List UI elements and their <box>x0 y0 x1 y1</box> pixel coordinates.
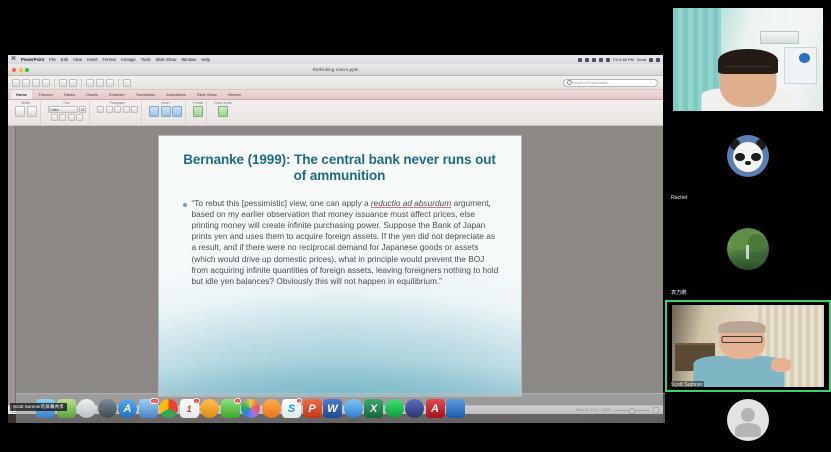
menubar-status-items[interactable]: Fri 9:48 PM Scott <box>578 57 660 62</box>
bluetooth-icon[interactable] <box>578 58 582 62</box>
macos-dock[interactable]: A 12 13 6 S4 P W X A <box>16 393 671 423</box>
battery-icon[interactable] <box>606 58 610 62</box>
app-store-icon[interactable]: A <box>118 399 137 418</box>
notification-center-icon[interactable] <box>656 58 660 62</box>
avatar-shoulders <box>735 423 761 437</box>
preview-image-icon[interactable]: 12 <box>139 399 158 418</box>
editor-work-area[interactable]: Bernanke (1999): The central bank never … <box>8 126 663 405</box>
ribbon-group-row[interactable] <box>149 106 182 117</box>
font-name-row[interactable]: Calibri 28 <box>48 106 87 113</box>
menu-edit[interactable]: Edit <box>61 57 68 62</box>
ribbon-group-insert: Insert <box>146 101 186 125</box>
spotify-icon[interactable] <box>385 399 404 418</box>
toolbar-divider <box>81 79 82 87</box>
align-right-icon[interactable] <box>131 106 138 113</box>
tab-home[interactable]: Home <box>11 90 32 99</box>
calendar-icon[interactable]: 13 <box>180 399 199 418</box>
underline-icon[interactable] <box>68 114 75 121</box>
participant-tile-4[interactable]: Scott Sumner <box>665 300 831 392</box>
settings-gear-icon[interactable] <box>98 399 117 418</box>
menubar-username[interactable]: Scott <box>637 57 646 62</box>
participant-filmstrip[interactable]: Rachel 袁方鹏 Scott Sumner <box>665 0 831 452</box>
font-name-select[interactable]: Calibri <box>48 106 78 113</box>
participant-tile-5[interactable] <box>665 392 831 452</box>
tab-smartart[interactable]: SmartArt <box>104 90 130 99</box>
insert-shape-icon[interactable] <box>172 106 182 117</box>
blue-app-icon[interactable] <box>446 399 465 418</box>
tab-charts[interactable]: Charts <box>81 90 103 99</box>
search-input[interactable]: Search in Presentation <box>563 79 658 87</box>
ribbon-group-format: Format <box>190 101 207 125</box>
shared-screen-region[interactable]: ⌘ PowerPoint File Edit View Insert Forma… <box>0 0 665 452</box>
vpn-shield-icon[interactable] <box>405 399 424 418</box>
excel-glyph: X <box>364 399 383 418</box>
ribbon-group-row[interactable] <box>218 106 228 117</box>
toolbar-divider <box>54 79 55 87</box>
ribbon-group-label: Slides <box>21 101 30 105</box>
menu-insert[interactable]: Insert <box>87 57 97 62</box>
tab-animations[interactable]: Animations <box>161 90 191 99</box>
ribbon-group-row[interactable] <box>193 106 203 117</box>
app-store-glyph: A <box>118 399 137 418</box>
panda-eye-right <box>751 153 761 161</box>
slide-body-text[interactable]: “To rebut this [pessimistic] view, one c… <box>192 198 501 288</box>
tab-transitions[interactable]: Transitions <box>131 90 160 99</box>
tab-tables[interactable]: Tables <box>59 90 81 99</box>
toolbar-divider <box>118 79 119 87</box>
macos-menubar[interactable]: ⌘ PowerPoint File Edit View Insert Forma… <box>8 55 663 64</box>
new-slide-icon[interactable] <box>15 106 25 117</box>
tab-slide-show[interactable]: Slide Show <box>192 90 222 99</box>
new-presentation-button[interactable] <box>12 79 20 87</box>
ribbon-group-row[interactable] <box>15 106 37 117</box>
slide-title[interactable]: Bernanke (1999): The central bank never … <box>177 152 503 185</box>
volume-icon[interactable] <box>592 58 596 62</box>
powerpoint-icon[interactable]: P <box>303 399 322 418</box>
powerpoint-titlebar[interactable]: Rethinking macro.pptx <box>8 64 663 76</box>
participant-1-video <box>673 8 823 111</box>
tab-themes[interactable]: Themes <box>33 90 57 99</box>
zoom-meeting-window: ⌘ PowerPoint File Edit View Insert Forma… <box>0 0 831 452</box>
align-left-icon[interactable] <box>114 106 121 113</box>
powerpoint-glyph: P <box>303 399 322 418</box>
participant-tile-3[interactable]: 袁方鹏 <box>665 205 831 300</box>
participant-4-video <box>672 305 824 387</box>
open-file-button[interactable] <box>22 79 30 87</box>
word-icon[interactable]: W <box>323 399 342 418</box>
ribbon-group-label: Font <box>64 101 70 105</box>
paste-button[interactable] <box>106 79 114 87</box>
tab-review[interactable]: Review <box>223 90 246 99</box>
ribbon-toolbar[interactable]: Slides Font Calibri 28 <box>8 100 663 126</box>
whiteboard-object <box>784 47 817 84</box>
participant-3-name: 袁方鹏 <box>669 288 689 296</box>
copy-button[interactable] <box>96 79 104 87</box>
menu-app-name[interactable]: PowerPoint <box>21 57 44 62</box>
safari-icon[interactable] <box>344 399 363 418</box>
bold-icon[interactable] <box>51 114 58 121</box>
panda-avatar <box>727 135 769 177</box>
redo-button[interactable] <box>69 79 77 87</box>
wall-decoration <box>799 53 810 62</box>
macos-desktop: ⌘ PowerPoint File Edit View Insert Forma… <box>8 55 663 423</box>
skype-badge: 4 <box>296 398 302 404</box>
adobe-glyph: A <box>426 399 445 418</box>
open-circle-icon[interactable] <box>200 399 219 418</box>
ribbon-group-label: Paragraph <box>110 101 125 105</box>
participant-4-hand <box>771 358 791 373</box>
display-icon[interactable] <box>585 58 589 62</box>
menubar-clock[interactable]: Fri 9:48 PM <box>613 57 634 62</box>
skype-icon[interactable]: S4 <box>282 399 301 418</box>
messages-badge: 6 <box>234 398 240 404</box>
insert-picture-icon[interactable] <box>161 106 171 117</box>
participant-1-name <box>669 110 673 111</box>
screenshare-name-chip: Scott Sumner的屏幕共享 <box>10 403 67 411</box>
photos-icon[interactable] <box>241 399 260 418</box>
menu-view[interactable]: View <box>73 57 82 62</box>
messages-icon[interactable]: 6 <box>221 399 240 418</box>
participant-5-name <box>669 447 673 448</box>
font-size-select[interactable]: 28 <box>79 106 86 113</box>
participant-tile-2[interactable]: Rachel <box>665 115 831 205</box>
foliage-right <box>748 234 766 252</box>
word-glyph: W <box>323 399 342 418</box>
shape-fill-icon[interactable] <box>193 106 203 117</box>
numbered-list-icon[interactable] <box>106 106 113 113</box>
excel-icon[interactable]: X <box>364 399 383 418</box>
adobe-reader-icon[interactable]: A <box>426 399 445 418</box>
participant-tile-1[interactable] <box>665 0 831 115</box>
zoom-level-button[interactable] <box>123 79 131 87</box>
font-style-row[interactable] <box>51 114 84 121</box>
ribbon-group-label: Format <box>193 101 203 105</box>
ribbon-group-themes: Quick Styles <box>211 101 235 125</box>
nature-avatar <box>727 228 769 270</box>
print-button[interactable] <box>42 79 50 87</box>
quick-access-toolbar[interactable]: Search in Presentation <box>8 76 663 90</box>
slide-layout-icon[interactable] <box>27 106 37 117</box>
slide-body-placeholder[interactable]: “To rebut this [pessimistic] view, one c… <box>183 198 501 288</box>
bullet-list-icon[interactable] <box>97 106 104 113</box>
glasses-icon <box>724 66 772 73</box>
preview-badge: 12 <box>150 398 158 404</box>
chrome-browser-icon[interactable] <box>159 399 178 418</box>
menu-arrange[interactable]: Arrange <box>121 57 136 62</box>
ribbon-group-font: Font Calibri 28 <box>45 101 91 125</box>
save-button[interactable] <box>32 79 40 87</box>
italic-icon[interactable] <box>59 114 66 121</box>
text-color-icon[interactable] <box>76 114 83 121</box>
avatar-head <box>741 408 755 422</box>
slide-canvas[interactable]: Bernanke (1999): The central bank never … <box>16 126 663 405</box>
menu-slide-show[interactable]: Slide Show <box>155 57 176 62</box>
ribbon-group-paragraph: Paragraph <box>94 101 142 125</box>
calendar-badge: 3 <box>193 398 199 404</box>
menu-tools[interactable]: Tools <box>141 57 151 62</box>
rocket-launcher-icon[interactable] <box>77 399 96 418</box>
undo-button[interactable] <box>59 79 67 87</box>
quick-style-icon[interactable] <box>218 106 228 117</box>
cut-button[interactable] <box>86 79 94 87</box>
participant-4-name: Scott Sumner <box>669 381 704 388</box>
participant-4-hair <box>718 321 765 332</box>
slide-thumbnail-pane[interactable] <box>8 126 16 405</box>
default-person-avatar <box>727 399 769 441</box>
air-conditioner-object <box>760 31 799 44</box>
ribbon-tab-strip[interactable]: Home Themes Tables Charts SmartArt Trans… <box>8 90 663 100</box>
panda-nose <box>745 161 750 165</box>
apple-logo-icon[interactable]: ⌘ <box>11 57 16 62</box>
align-center-icon[interactable] <box>123 106 130 113</box>
wifi-icon[interactable] <box>599 58 603 62</box>
document-title: Rethinking macro.pptx <box>8 67 663 72</box>
powerpoint-window[interactable]: Rethinking macro.pptx Search <box>8 64 663 414</box>
slide-surface[interactable]: Bernanke (1999): The central bank never … <box>158 135 522 397</box>
insert-text-box-icon[interactable] <box>149 106 159 117</box>
menu-format[interactable]: Format <box>103 57 116 62</box>
ground-area <box>727 259 769 270</box>
menu-file[interactable]: File <box>49 57 56 62</box>
ribbon-group-label: Quick Styles <box>214 101 232 105</box>
ribbon-group-label: Insert <box>162 101 170 105</box>
participant-2-name: Rachel <box>669 194 689 201</box>
ribbon-group-slides: Slides <box>12 101 41 125</box>
glasses-icon <box>721 336 762 343</box>
menu-help[interactable]: Help <box>201 57 210 62</box>
bullet-point-icon <box>183 203 187 207</box>
menu-window[interactable]: Window <box>181 57 196 62</box>
ibooks-icon[interactable] <box>262 399 281 418</box>
ribbon-group-row[interactable] <box>97 106 138 113</box>
spotlight-search-icon[interactable] <box>649 58 653 62</box>
